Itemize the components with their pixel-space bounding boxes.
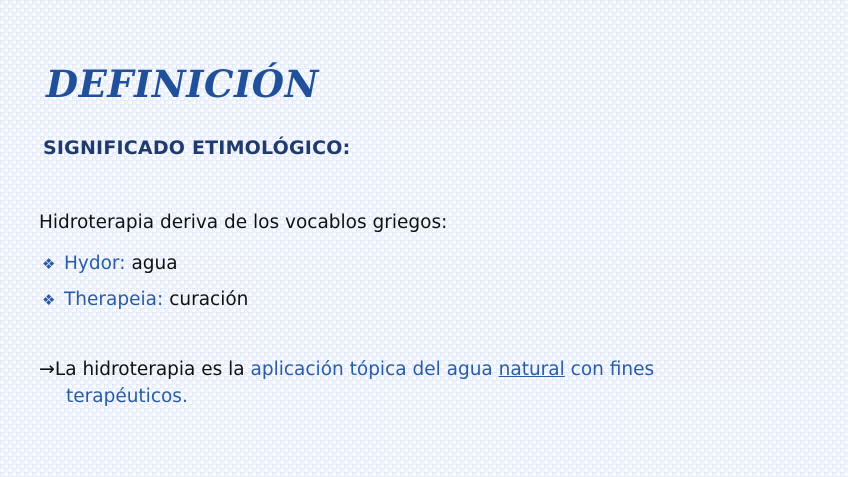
diamond-bullet-icon: ❖ [42,246,64,282]
closing-highlight-text: aplicación tópica del agua [251,359,499,380]
list-item: ❖ Hydor: agua [42,246,782,282]
diamond-bullet-icon: ❖ [42,282,64,318]
list-item: ❖ Therapeia: curación [42,282,782,318]
right-arrow-icon: → [39,358,55,380]
list-item-gloss: agua [131,246,177,282]
closing-underlined-text: natural [499,359,565,380]
list-item-term: Hydor: [64,246,125,282]
list-item-gloss: curación [169,282,248,318]
list-item-term: Therapeia: [64,282,163,318]
closing-lead-text: La hidroterapia es la [55,359,251,380]
closing-statement: →La hidroterapia es la aplicación tópica… [39,356,779,410]
bullet-list: ❖ Hydor: agua ❖ Therapeia: curación [42,246,782,318]
section-subtitle: SIGNIFICADO ETIMOLÓGICO: [43,136,350,160]
page-title: DEFINICIÓN [46,62,319,106]
lead-paragraph: Hidroterapia deriva de los vocablos grie… [39,210,447,236]
slide-canvas: DEFINICIÓN SIGNIFICADO ETIMOLÓGICO: Hidr… [0,0,848,477]
